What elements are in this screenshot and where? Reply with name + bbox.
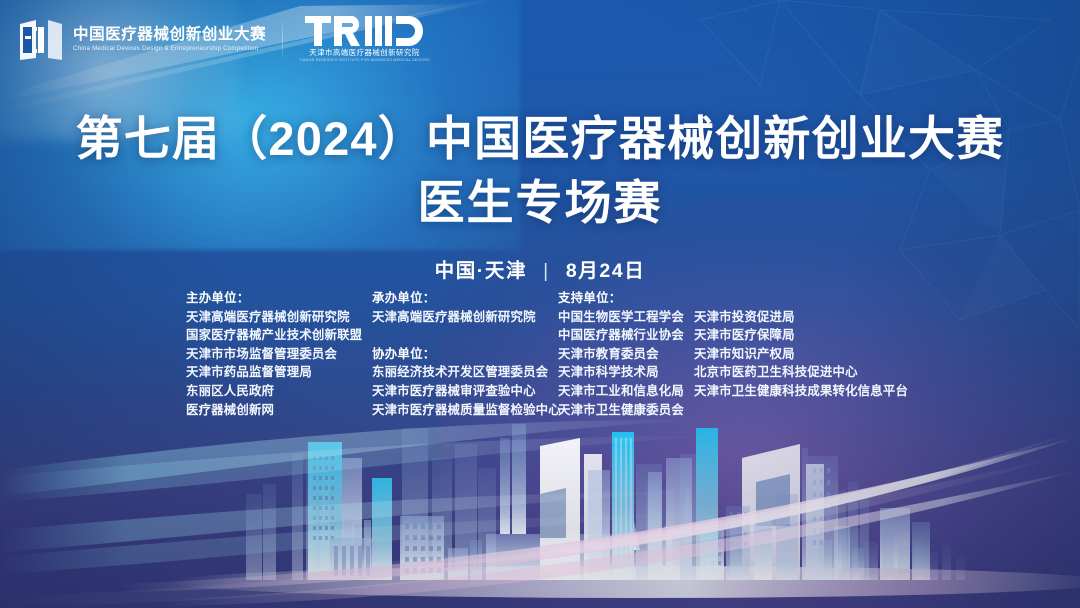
org-item: 医疗器械创新网 <box>186 401 372 420</box>
event-location: 中国·天津 <box>435 260 528 282</box>
org-item: 天津市卫生健康科技成果转化信息平台 <box>694 382 904 401</box>
org-item: 天津市工业和信息化局 <box>558 382 694 401</box>
competition-logo-text: 中国医疗器械创新创业大赛 China Medical Devices Desig… <box>73 27 266 52</box>
org-item: 东丽经济技术开发区管理委员会 <box>372 363 558 382</box>
org-item: 天津市卫生健康委员会 <box>558 401 694 420</box>
trimd-name-cn: 天津市高端医疗器械创新研究院 <box>309 49 419 56</box>
trimd-logo: 天津市高端医疗器械创新研究院 TIANJIN RESEARCH INSTITUT… <box>299 16 430 63</box>
org-item: 天津市投资促进局 <box>694 308 904 327</box>
org-item: 天津市市场监督管理委员会 <box>186 345 372 364</box>
event-poster: 中国医疗器械创新创业大赛 China Medical Devices Desig… <box>0 0 1080 608</box>
organizations-column-supporters-b: 天津市投资促进局 天津市医疗保障局 天津市知识产权局 北京市医药卫生科技促进中心… <box>694 289 904 401</box>
org-item: 中国医疗器械行业协会 <box>558 326 694 345</box>
trimd-wordmark-icon <box>305 16 423 46</box>
org-item: 天津高端医疗器械创新研究院 <box>372 308 558 327</box>
org-heading: 支持单位： <box>558 289 694 308</box>
poster-title-line2: 医生专场赛 <box>0 174 1080 233</box>
org-item: 东丽区人民政府 <box>186 382 372 401</box>
event-date: 8月24日 <box>566 260 646 282</box>
org-heading: 承办单位： <box>372 289 558 308</box>
org-item: 天津市医疗器械质量监督检验中心 <box>372 401 558 420</box>
organizations-column-host: 主办单位： 天津高端医疗器械创新研究院 国家医疗器械产业技术创新联盟 天津市市场… <box>186 289 372 419</box>
org-heading: 主办单位： <box>186 289 372 308</box>
org-item: 中国生物医学工程学会 <box>558 308 694 327</box>
event-meta: 中国·天津 | 8月24日 <box>0 254 1080 283</box>
org-item: 北京市医药卫生科技促进中心 <box>694 363 904 382</box>
open-book-door-logo-icon <box>18 18 64 62</box>
org-item: 天津市科学技术局 <box>558 363 694 382</box>
event-meta-separator: | <box>543 260 550 283</box>
org-item: 天津市知识产权局 <box>694 345 904 364</box>
organizations-block: 主办单位： 天津高端医疗器械创新研究院 国家医疗器械产业技术创新联盟 天津市市场… <box>186 289 904 419</box>
logo-divider <box>282 20 283 60</box>
poster-title-line1: 第七届（2024）中国医疗器械创新创业大赛 <box>0 112 1080 167</box>
poster-title-block: 第七届（2024）中国医疗器械创新创业大赛 医生专场赛 中国·天津 | 8月24… <box>0 112 1080 283</box>
competition-name-cn: 中国医疗器械创新创业大赛 <box>73 27 266 43</box>
org-item: 天津高端医疗器械创新研究院 <box>186 308 372 327</box>
org-item: 天津市教育委员会 <box>558 345 694 364</box>
org-item: 天津市医疗器械审评查验中心 <box>372 382 558 401</box>
organizations-column-organizer: 承办单位： 天津高端医疗器械创新研究院 协办单位： 东丽经济技术开发区管理委员会… <box>372 289 558 419</box>
competition-logo: 中国医疗器械创新创业大赛 China Medical Devices Desig… <box>18 18 266 62</box>
competition-name-en: China Medical Devices Design & Entrepren… <box>73 46 270 52</box>
header-logos: 中国医疗器械创新创业大赛 China Medical Devices Desig… <box>18 16 430 63</box>
org-heading: 协办单位： <box>372 345 558 364</box>
org-column-spacer <box>694 289 904 308</box>
org-item: 国家医疗器械产业技术创新联盟 <box>186 326 372 345</box>
org-item: 天津市药品监督管理局 <box>186 363 372 382</box>
org-section-gap <box>372 326 558 345</box>
organizations-column-supporters-a: 支持单位： 中国生物医学工程学会 中国医疗器械行业协会 天津市教育委员会 天津市… <box>558 289 694 419</box>
org-item: 天津市医疗保障局 <box>694 326 904 345</box>
trimd-name-en: TIANJIN RESEARCH INSTITUTE FOR ADVANCED … <box>299 59 430 63</box>
